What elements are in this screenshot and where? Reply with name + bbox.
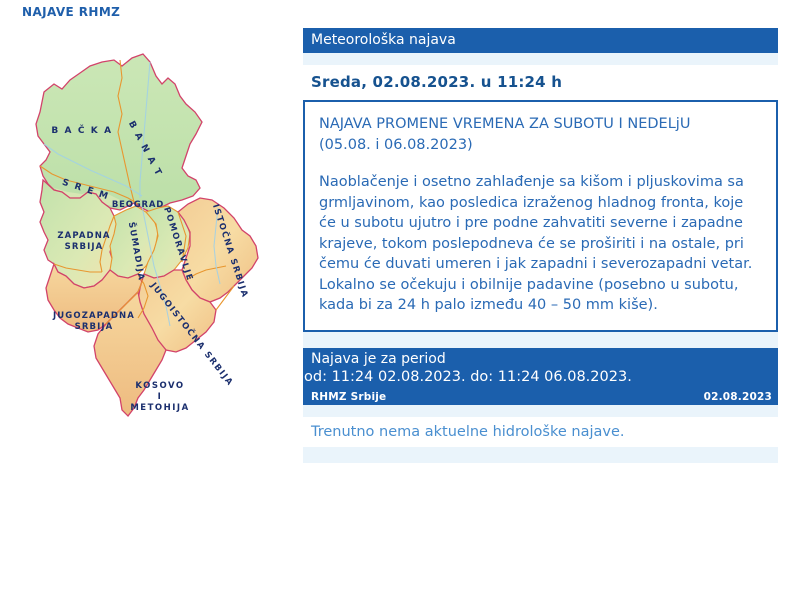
forecast-text-box: NAJAVA PROMENE VREMENA ZA SUBOTU I NEDEL… xyxy=(303,100,778,332)
page-title: NAJAVE RHMZ xyxy=(22,5,120,19)
announcement-panel: Meteorološka najava Sreda, 02.08.2023. u… xyxy=(303,28,778,463)
spacer-band-2 xyxy=(303,332,778,348)
map-label-jugozapadna: JUGOZAPADNA xyxy=(52,311,135,321)
hydro-source-label: RHMZ Srbije xyxy=(311,390,386,404)
validity-period-range: od: 11:24 02.08.2023. do: 11:24 06.08.20… xyxy=(303,368,778,387)
map-label-zapadna: ZAPADNA xyxy=(57,231,110,241)
forecast-title-line-2: (05.08. i 06.08.2023) xyxy=(319,135,762,156)
serbia-map-panel: B A Č K A B A N A T S R E M BEOGRAD ZAPA… xyxy=(10,40,290,430)
hydro-date-label: 02.08.2023 xyxy=(704,390,772,404)
forecast-body-text: Naoblačenje i osetno zahlađenje sa kišom… xyxy=(319,172,762,316)
map-label-metohija: METOHIJA xyxy=(130,403,189,413)
spacer-band-3 xyxy=(303,405,778,417)
map-label-backa: B A Č K A xyxy=(51,124,112,136)
map-label-kosovo: KOSOVO xyxy=(135,381,184,391)
announcement-issued-datetime: Sreda, 02.08.2023. u 11:24 h xyxy=(303,65,778,100)
map-label-kosovo-i: I xyxy=(158,392,163,402)
map-label-jugozapadna-2: SRBIJA xyxy=(75,322,114,332)
validity-period-block: Najava je za period od: 11:24 02.08.2023… xyxy=(303,348,778,389)
serbia-map-svg: B A Č K A B A N A T S R E M BEOGRAD ZAPA… xyxy=(10,40,290,430)
hydro-status-message: Trenutno nema aktuelne hidrološke najave… xyxy=(303,417,778,447)
validity-period-title: Najava je za period xyxy=(303,350,778,368)
meteo-announcement-header: Meteorološka najava xyxy=(303,28,778,53)
forecast-title-line-1: NAJAVA PROMENE VREMENA ZA SUBOTU I NEDEL… xyxy=(319,114,762,135)
hydro-source-bar: RHMZ Srbije 02.08.2023 xyxy=(303,389,778,405)
spacer-band-4 xyxy=(303,447,778,463)
spacer-band-1 xyxy=(303,53,778,65)
map-label-beograd: BEOGRAD xyxy=(112,200,164,210)
map-label-zapadna-2: SRBIJA xyxy=(65,242,104,252)
